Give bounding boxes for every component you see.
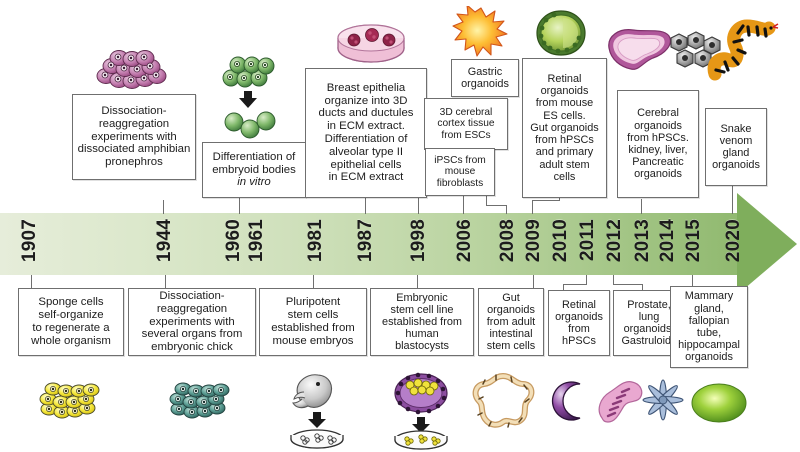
arrow-down-icon — [239, 91, 257, 108]
event-text-2020-above: Snakevenomglandorganoids — [712, 123, 760, 172]
event-box-2009-below[interactable]: Gutorganoidsfrom adultintestinalstem cel… — [478, 288, 544, 356]
year-label-1961: 1961 — [247, 219, 266, 262]
year-label-1987: 1987 — [356, 219, 375, 262]
connector-2012-bottom-elbow — [613, 284, 643, 285]
timeline-arrowhead — [737, 193, 797, 295]
yellow-cell-cluster-icon — [36, 378, 102, 422]
connector-1960-top — [239, 196, 240, 214]
connector-1907-bottom — [31, 275, 32, 288]
connector-2006-top — [463, 196, 464, 214]
event-box-1944-below[interactable]: Dissociation-reaggregationexperiments wi… — [128, 288, 256, 356]
event-box-2008-above[interactable]: Gastricorganoids — [451, 59, 519, 97]
orange-gastric-organoid-icon — [452, 6, 510, 58]
green-mammary-organoid-icon — [690, 382, 748, 424]
tan-gut-organoid-icon — [468, 372, 538, 430]
blue-gastruloid-star-icon — [641, 378, 685, 422]
connector-2009-top-elbow — [532, 200, 560, 201]
year-label-2012: 2012 — [605, 219, 624, 262]
event-box-2006-above[interactable]: iPSCs frommousefibroblasts — [425, 148, 495, 196]
event-text-1960-above: Differentiation ofembryoid bodiesin vitr… — [212, 151, 296, 189]
event-text-1944-below: Dissociation-reaggregationexperiments wi… — [142, 290, 243, 354]
event-box-1981-above[interactable]: Breast epitheliaorganize into 3Dducts an… — [305, 68, 427, 198]
event-text-1998-below: Embryonicstem cell lineestablished fromh… — [382, 292, 462, 353]
event-text-1998-above: 3D cerebralcortex tissuefrom ESCs — [437, 107, 494, 141]
purple-optic-cup-icon — [546, 378, 592, 424]
year-label-2015: 2015 — [684, 219, 703, 262]
year-label-1907: 1907 — [20, 219, 39, 262]
year-label-2014: 2014 — [658, 219, 677, 262]
pink-petri-dish-icon — [333, 18, 409, 66]
event-box-1944-above[interactable]: Dissociation-reaggregationexperiments wi… — [72, 94, 196, 180]
connector-2013-top — [641, 199, 642, 214]
event-text-2011-below: RetinalorganoidsfromhPSCs — [555, 299, 603, 348]
year-label-2013: 2013 — [633, 219, 652, 262]
event-text-2006-above: iPSCs frommousefibroblasts — [434, 155, 486, 189]
green-embryoid-bodies-icon — [214, 52, 288, 140]
year-label-2009: 2009 — [524, 219, 543, 262]
connector-2008-top-stem — [506, 205, 507, 214]
connector-2009-bottom — [533, 275, 534, 288]
event-box-2009-above[interactable]: Retinalorganoidsfrom mouseES cells.Gut o… — [522, 58, 607, 198]
connector-2020-top — [732, 186, 733, 214]
connector-2008-top-elbow — [486, 205, 507, 206]
event-box-1907-below[interactable]: Sponge cellsself-organizeto regenerate a… — [18, 288, 124, 356]
event-box-2015-below[interactable]: Mammarygland,fallopiantube,hippocampalor… — [670, 286, 748, 368]
connector-1987-top — [365, 198, 366, 214]
event-box-1998-below[interactable]: Embryonicstem cell lineestablished fromh… — [370, 288, 474, 356]
event-box-1998-above[interactable]: 3D cerebralcortex tissuefrom ESCs — [424, 98, 508, 150]
event-box-2011-below[interactable]: RetinalorganoidsfromhPSCs — [548, 290, 610, 356]
event-text-2012-below: Prostate,lungorganoids.Gastruloids — [621, 299, 676, 348]
arrow-down-icon — [308, 412, 326, 428]
connector-1981-bottom — [313, 275, 314, 288]
year-label-1981: 1981 — [306, 219, 325, 262]
year-label-1960: 1960 — [224, 219, 243, 262]
event-text-1907-below: Sponge cellsself-organizeto regenerate a… — [31, 296, 111, 347]
year-label-2010: 2010 — [551, 219, 570, 262]
year-label-2011: 2011 — [578, 219, 597, 261]
event-text-2013-above: Cerebralorganoidsfrom hPSCs.kidney, live… — [627, 107, 689, 180]
event-text-2015-below: Mammarygland,fallopiantube,hippocampalor… — [678, 290, 740, 363]
event-text-1981-above: Breast epitheliaorganize into 3Dducts an… — [319, 82, 414, 184]
teal-cell-cluster-icon — [166, 378, 232, 422]
year-label-2008: 2008 — [498, 219, 517, 262]
pink-cerebral-organoid-icon — [601, 22, 675, 74]
timeline-figure: 1907 1944 1960 1961 1981 1987 1998 2006 … — [0, 0, 800, 452]
event-text-2009-above: Retinalorganoidsfrom mouseES cells.Gut o… — [530, 73, 598, 183]
connector-1944-bottom — [165, 275, 166, 288]
blastocyst-to-dish-icon — [386, 372, 456, 450]
event-text-2008-above: Gastricorganoids — [461, 66, 509, 90]
event-box-1981-below[interactable]: Pluripotentstem cellsestablished frommou… — [259, 288, 367, 356]
event-text-1944-above: Dissociation-reaggregationexperiments wi… — [78, 105, 191, 169]
year-label-2020: 2020 — [724, 219, 743, 262]
event-box-2020-above[interactable]: Snakevenomglandorganoids — [705, 108, 767, 186]
connector-2011-bottom-elbow — [563, 284, 587, 285]
connector-2009-top-stem — [532, 200, 533, 214]
year-label-2006: 2006 — [455, 219, 474, 262]
year-label-1998: 1998 — [409, 219, 428, 262]
event-text-2009-below: Gutorganoidsfrom adultintestinalstem cel… — [487, 292, 535, 353]
connector-1944-top — [163, 200, 164, 214]
event-box-2013-above[interactable]: Cerebralorganoidsfrom hPSCs.kidney, live… — [617, 90, 699, 198]
event-box-1960-above[interactable]: Differentiation ofembryoid bodiesin vitr… — [202, 142, 306, 198]
orange-snake-icon — [707, 18, 779, 82]
event-text-1981-below: Pluripotentstem cellsestablished frommou… — [271, 296, 355, 347]
mouse-embryo-to-dish-icon — [284, 372, 350, 450]
connector-1998-bottom — [417, 275, 418, 288]
purple-cell-cluster-icon — [90, 50, 176, 94]
pink-lung-organoid-icon — [594, 376, 646, 424]
green-retinal-organoid-icon — [533, 8, 589, 58]
year-label-1944: 1944 — [155, 219, 174, 262]
